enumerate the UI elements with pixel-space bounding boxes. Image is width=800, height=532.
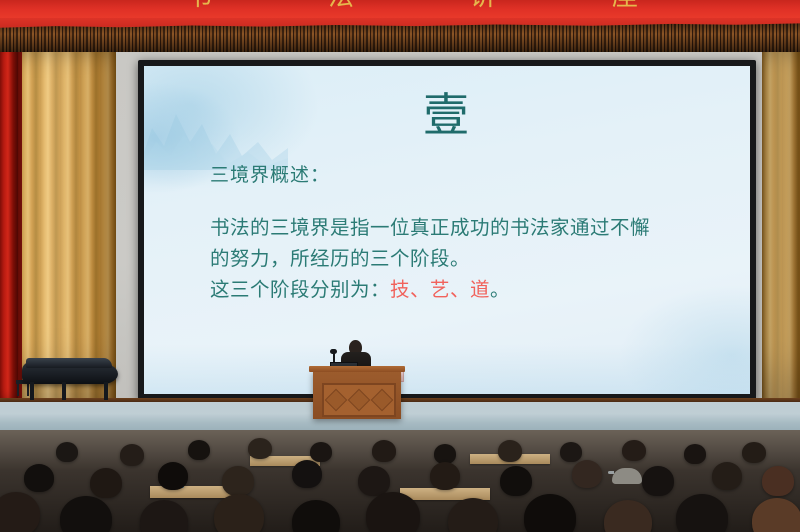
slide-body-line-2: 的努力，所经历的三个阶段。 [210,243,720,274]
list-item [222,466,254,496]
slide-body-line-3-prefix: 这三个阶段分别为： [210,278,390,301]
list-item [500,466,532,496]
banner-glyph-1: 书 [186,0,212,10]
list-item [292,460,322,488]
piano-lid [26,358,112,368]
slide-body: 书法的三境界是指一位真正成功的书法家通过不懈 的努力，所经历的三个阶段。 这三个… [210,212,720,305]
slide-body-highlight: 技、艺、道 [390,278,490,301]
audience-seating [0,430,800,532]
list-item [120,444,144,466]
list-item [158,462,188,490]
list-item [310,442,332,462]
list-item [752,498,800,532]
list-item [434,444,456,464]
list-item [762,466,794,496]
list-item [188,440,210,460]
list-item [24,464,54,492]
piano-leg-front-left [30,382,34,400]
list-item [712,462,742,490]
list-item [560,442,582,462]
grand-piano [16,352,122,402]
list-item [366,492,420,532]
slide-body-line-3-suffix: 。 [490,278,510,301]
list-item [684,444,706,464]
slide-body-line-1: 书法的三境界是指一位真正成功的书法家通过不懈 [210,212,720,243]
piano-bench-leg-right [27,384,29,396]
list-item [642,466,674,496]
podium-front-panel [322,383,396,417]
piano-leg-mid [62,382,66,400]
slide-body-line-3: 这三个阶段分别为：技、艺、道。 [210,274,720,305]
list-item [572,460,602,488]
watercolor-bottom-wash [144,344,750,394]
auditorium-photo-scene: 书 法 讲 座 壹 三境界概述： 书法的三境界是指一位真正成功的书法家通过不懈 … [0,0,800,532]
list-item [622,440,646,461]
red-curtain-left [0,42,22,402]
podium-diamond-2 [348,389,371,412]
wooden-podium [313,371,401,419]
banner-glyph-3: 讲 [470,0,496,10]
podium-diamond-1 [324,389,347,412]
list-item [498,440,522,462]
list-item [56,442,78,462]
piano-leg-rear [104,382,108,400]
gold-curtain-right [762,42,800,402]
list-item [742,442,766,463]
projection-screen: 壹 三境界概述： 书法的三境界是指一位真正成功的书法家通过不懈 的努力，所经历的… [144,66,750,394]
banner-glyph-4: 座 [612,0,638,10]
curtain-sheen-right [762,42,800,402]
list-item [248,438,272,459]
podium-diamond-carving [324,385,394,415]
slide-subtitle: 三境界概述： [210,160,330,187]
list-item [372,440,396,462]
baseball-cap [612,468,642,484]
projection-screen-bezel: 壹 三境界概述： 书法的三境界是指一位真正成功的书法家通过不懈 的努力，所经历的… [138,60,756,401]
piano-bench-leg-left [17,384,19,396]
list-item [90,468,122,498]
banner-glyph-2: 法 [328,0,354,10]
list-item [358,466,390,496]
podium-top-surface [309,366,405,372]
podium-diamond-3 [371,389,394,412]
slide-title: 壹 [144,88,750,142]
list-item [430,462,460,490]
list-item [214,494,264,532]
